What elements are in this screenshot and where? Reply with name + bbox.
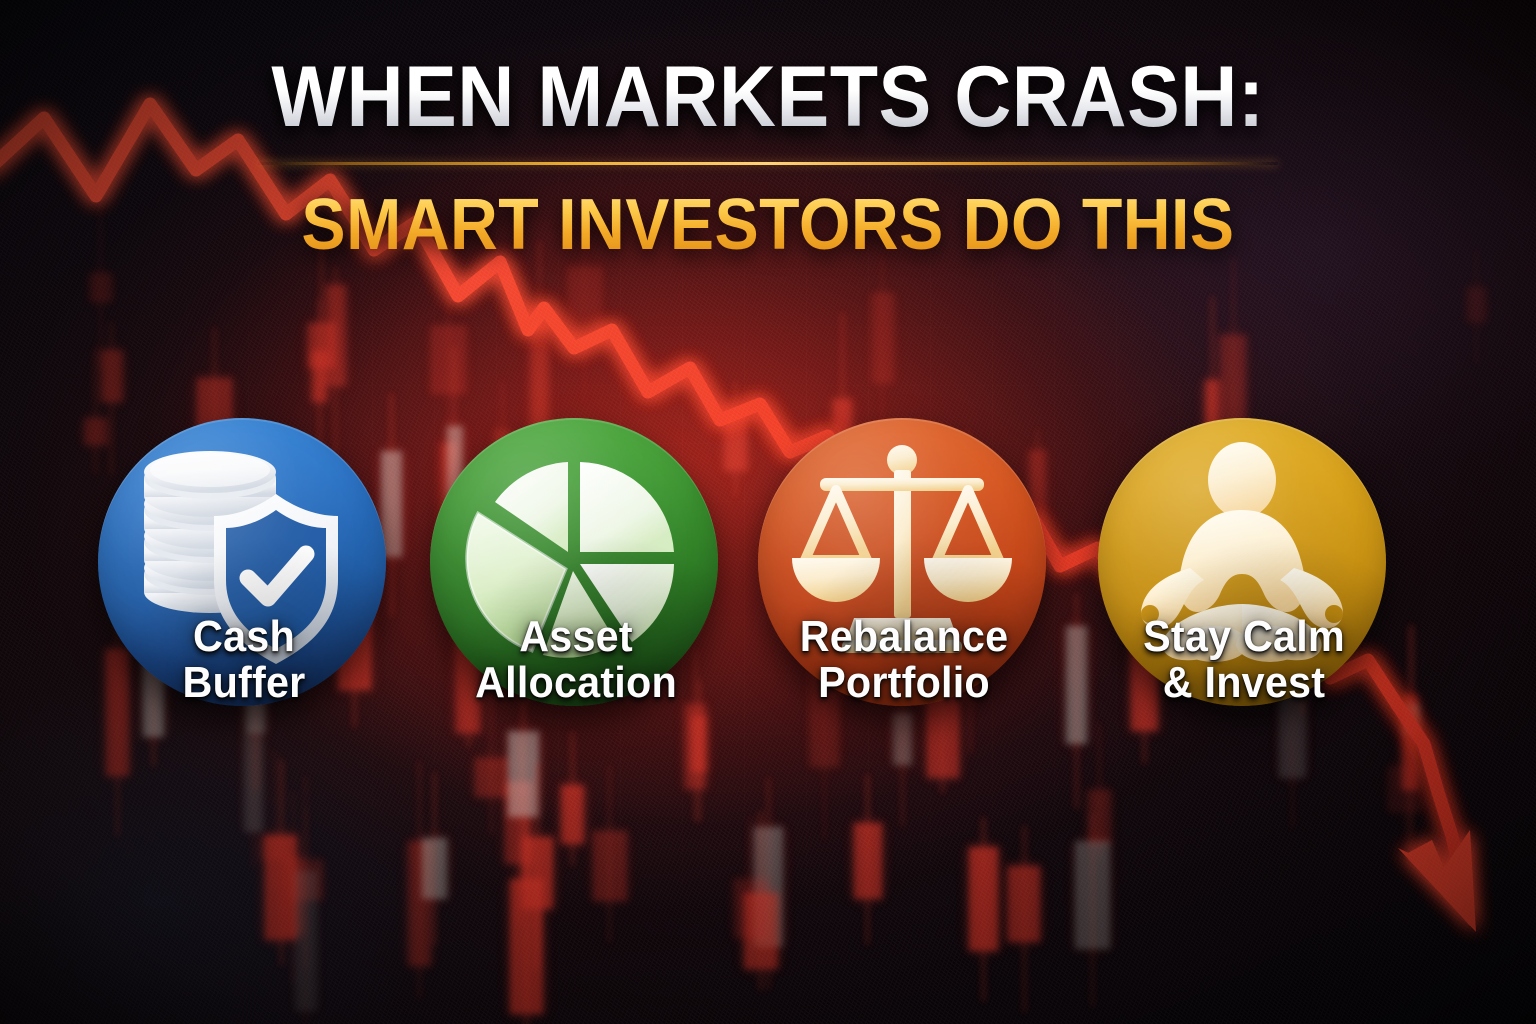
pillar-disc-blue[interactable] (98, 418, 386, 706)
header: WHEN MARKETS CRASH: SMART INVESTORS DO T… (0, 54, 1536, 261)
pillar-row: Cash Buffer (0, 418, 1536, 778)
pillar-rebalance-portfolio[interactable]: Rebalance Portfolio (758, 418, 1050, 706)
pillar-disc-gold[interactable] (1098, 418, 1386, 706)
pillar-stay-calm-and-invest[interactable]: Stay Calm & Invest (1098, 418, 1390, 706)
pillar-asset-allocation[interactable]: Asset Allocation (430, 418, 722, 706)
page-subtitle: SMART INVESTORS DO THIS (61, 189, 1474, 261)
poster-canvas: WHEN MARKETS CRASH: SMART INVESTORS DO T… (0, 0, 1536, 1024)
meditation-figure-icon (1098, 418, 1386, 706)
pillar-cash-buffer[interactable]: Cash Buffer (98, 418, 390, 706)
pie-chart-icon (430, 418, 718, 706)
balance-scales-icon (758, 418, 1046, 706)
pillar-disc-orange[interactable] (758, 418, 1046, 706)
pillar-disc-green[interactable] (430, 418, 718, 706)
coins-shield-check-icon (98, 418, 386, 706)
page-title: WHEN MARKETS CRASH: (61, 54, 1474, 140)
gold-divider (258, 162, 1278, 165)
